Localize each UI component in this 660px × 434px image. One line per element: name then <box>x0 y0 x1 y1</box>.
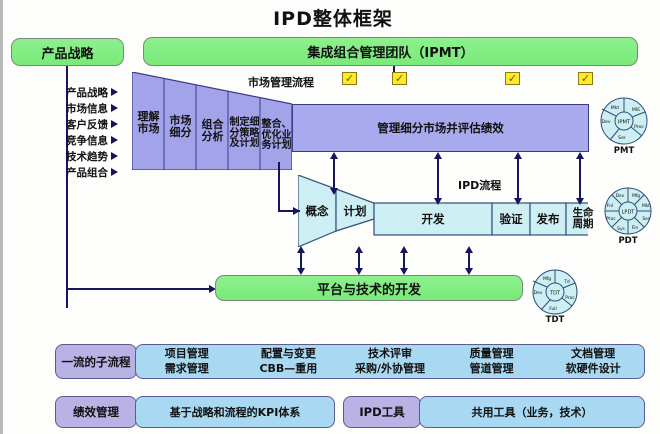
svg-text:Mkt: Mkt <box>642 203 650 209</box>
tools-value-box: 共用工具（业务，技术） <box>419 396 645 428</box>
market-funnel: 理解 市场 市场 细分 组合 分析 制定细 分策略 及计划 整合、 优化业 务计… <box>132 72 292 170</box>
input-label: 客户反馈 <box>66 117 108 132</box>
subprocess-line-1: 质量管理 <box>441 347 543 362</box>
input-arrow-icon <box>111 104 118 112</box>
plat-arrow-down-1 <box>297 268 305 275</box>
svg-text:Proc: Proc <box>634 124 644 130</box>
market-stage-5-label: 整合、 优化业 务计划 <box>262 120 292 152</box>
market-stage-3-label: 组合 分析 <box>202 119 224 142</box>
link-arrow-down-1 <box>330 188 338 195</box>
tdt-wheel-label: TDT <box>527 315 583 325</box>
subprocess-content-box: 项目管理需求管理配置与变更CBB—重用技术评审采购/外协管理质量管理管道管理文档… <box>135 344 645 379</box>
ipd-entry-arrow <box>293 207 300 215</box>
subprocess-line-1: 文档管理 <box>542 347 644 362</box>
svg-text:Ser: Ser <box>642 216 649 222</box>
pmt-wheel-label: PMT <box>595 146 653 156</box>
market-stage-4: 制定细 分策略 及计划 <box>229 102 260 166</box>
input-row: 竞争信息 <box>66 132 136 148</box>
link-arrow-down-2 <box>434 198 442 205</box>
input-row: 市场信息 <box>66 100 136 116</box>
input-arrow-icon <box>111 136 118 144</box>
subprocess-column: 文档管理软硬件设计 <box>542 347 644 377</box>
market-stage-1-label: 理解 市场 <box>138 111 160 134</box>
product-strategy-box: 产品战略 <box>11 38 124 66</box>
ipd-funnel: 概念 计划 开发 验证 发布 生命周期 <box>298 175 588 247</box>
subprocess-columns: 项目管理需求管理配置与变更CBB—重用技术评审采购/外协管理质量管理管道管理文档… <box>136 345 644 378</box>
svg-text:TDT: TDT <box>549 291 561 297</box>
svg-text:IPMT: IPMT <box>618 120 631 126</box>
subprocess-column: 项目管理需求管理 <box>136 347 238 377</box>
plat-arrow-up-1 <box>297 246 305 253</box>
market-to-ipd-vline <box>278 162 280 212</box>
checkmark-box-3[interactable]: ✓ <box>505 72 520 85</box>
check-icon: ✓ <box>345 73 354 84</box>
input-row: 技术趋势 <box>66 148 136 164</box>
subprocess-line-2: 软硬件设计 <box>542 362 644 377</box>
pmt-wheel-shape: IPMT Mkt MIE Proc Ser Dev <box>595 96 653 146</box>
subprocess-line-2: 需求管理 <box>136 362 238 377</box>
ipd-stage-lifecycle: 生命周期 <box>566 203 600 235</box>
svg-text:LPDT: LPDT <box>622 210 636 216</box>
svg-text:Dev: Dev <box>601 119 610 125</box>
input-arrow-icon <box>111 152 118 160</box>
input-label: 市场信息 <box>66 101 108 116</box>
pdt-wheel: LPDT Dev Mfg Mkt Ser Fin Sys Proc Fnl PD… <box>599 186 657 248</box>
svg-text:Dev: Dev <box>534 290 543 296</box>
ipd-stage-lifecycle-label: 生命周期 <box>570 208 596 230</box>
tdt-wheel: TDT Mfg Td Proc Full Dev TDT <box>527 268 583 328</box>
plat-arrow-up-3 <box>400 246 408 253</box>
market-stage-4-label: 制定细 分策略 及计划 <box>230 118 260 150</box>
pmt-wheel: IPMT Mkt MIE Proc Ser Dev PMT <box>595 96 653 158</box>
tools-label-box: IPD工具 <box>343 396 421 428</box>
check-icon: ✓ <box>508 73 517 84</box>
input-arrow-icon <box>111 120 118 128</box>
svg-text:Sys: Sys <box>617 226 625 232</box>
checkmark-box-1[interactable]: ✓ <box>342 72 357 85</box>
subprocess-line-1: 技术评审 <box>339 347 441 362</box>
input-label: 产品组合 <box>66 165 108 180</box>
ipd-stage-develop: 开发 <box>374 203 492 235</box>
input-arrow-icon <box>111 88 118 96</box>
input-label: 技术趋势 <box>66 149 108 164</box>
svg-text:Mkt: Mkt <box>611 105 620 111</box>
market-stage-2: 市场 细分 <box>165 94 196 160</box>
input-arrow-icon <box>111 168 118 176</box>
link-vline-2 <box>437 156 439 200</box>
input-row: 产品战略 <box>66 84 136 100</box>
checkmark-box-2[interactable]: ✓ <box>392 72 407 85</box>
performance-value-box: 基于战略和流程的KPI体系 <box>135 396 335 428</box>
plat-arrow-up-4 <box>465 246 473 253</box>
tdt-wheel-shape: TDT Mfg Td Proc Full Dev <box>527 268 583 316</box>
input-label: 产品战略 <box>66 85 108 100</box>
platform-development-box: 平台与技术的开发 <box>215 275 523 301</box>
subprocess-line-2: CBB—重用 <box>238 362 340 377</box>
subprocess-column: 质量管理管道管理 <box>441 347 543 377</box>
svg-text:MIE: MIE <box>632 107 640 113</box>
market-stage-3: 组合 分析 <box>197 98 228 164</box>
checkmark-box-4[interactable]: ✓ <box>578 72 593 85</box>
check-icon: ✓ <box>395 73 404 84</box>
subprocess-line-1: 配置与变更 <box>238 347 340 362</box>
pdt-wheel-shape: LPDT Dev Mfg Mkt Ser Fin Sys Proc Fnl <box>599 186 657 236</box>
svg-text:Proc: Proc <box>606 216 616 222</box>
svg-text:Ser: Ser <box>618 135 626 141</box>
svg-text:Proc: Proc <box>565 295 575 301</box>
ipd-framework-diagram: IPD整体框架 产品战略 集成组合管理团队（IPMT） 产品战略市场信息客户反馈… <box>0 0 660 434</box>
subprocess-column: 技术评审采购/外协管理 <box>339 347 441 377</box>
svg-text:Full: Full <box>549 306 557 312</box>
plat-arrow-down-2 <box>355 268 363 275</box>
link-arrow-down-3 <box>514 198 522 205</box>
svg-text:Mfg: Mfg <box>543 276 551 282</box>
ipd-stage-concept: 概念 <box>300 191 334 231</box>
plat-arrow-down-4 <box>465 268 473 275</box>
subprocess-line-1: 项目管理 <box>136 347 238 362</box>
input-row: 客户反馈 <box>66 116 136 132</box>
link-arrow-up-4 <box>576 152 584 159</box>
svg-text:Td: Td <box>563 279 570 285</box>
market-stage-5: 整合、 优化业 务计划 <box>261 105 292 167</box>
svg-text:Fnl: Fnl <box>607 203 614 209</box>
link-vline-1 <box>333 156 335 190</box>
plat-arrow-up-2 <box>355 246 363 253</box>
subprocess-line-2: 管道管理 <box>441 362 543 377</box>
ipmt-box: 集成组合管理团队（IPMT） <box>143 37 638 66</box>
page-title: IPD整体框架 <box>3 4 660 31</box>
input-label: 竞争信息 <box>66 133 108 148</box>
link-arrow-up-3 <box>514 152 522 159</box>
svg-text:Mfg: Mfg <box>632 193 640 199</box>
svg-text:Dev: Dev <box>616 193 625 199</box>
market-stage-1: 理解 市场 <box>133 90 164 156</box>
ipd-stage-verify: 验证 <box>492 203 530 235</box>
input-labels-group: 产品战略市场信息客户反馈竞争信息技术趋势产品组合 <box>66 84 136 180</box>
link-arrow-up-1 <box>330 152 338 159</box>
subprocess-column: 配置与变更CBB—重用 <box>238 347 340 377</box>
manage-segments-bar: 管理细分市场并评估绩效 <box>292 104 589 152</box>
check-icon: ✓ <box>581 73 590 84</box>
input-row: 产品组合 <box>66 164 136 180</box>
pdt-wheel-label: PDT <box>599 236 657 246</box>
link-vline-3 <box>517 156 519 200</box>
link-arrow-down-4 <box>576 198 584 205</box>
plat-arrow-down-3 <box>400 268 408 275</box>
link-vline-4 <box>579 156 581 200</box>
product-strategy-connector-hline <box>66 288 211 290</box>
market-stage-2-label: 市场 细分 <box>170 115 192 138</box>
performance-label-box: 绩效管理 <box>55 396 137 428</box>
subprocess-line-2: 采购/外协管理 <box>339 362 441 377</box>
ipd-stage-plan: 计划 <box>338 197 372 225</box>
svg-text:Fin: Fin <box>632 225 638 231</box>
ipd-stage-release: 发布 <box>530 203 566 235</box>
link-arrow-up-2 <box>434 152 442 159</box>
subprocess-label-box: 一流的子流程 <box>55 344 137 379</box>
